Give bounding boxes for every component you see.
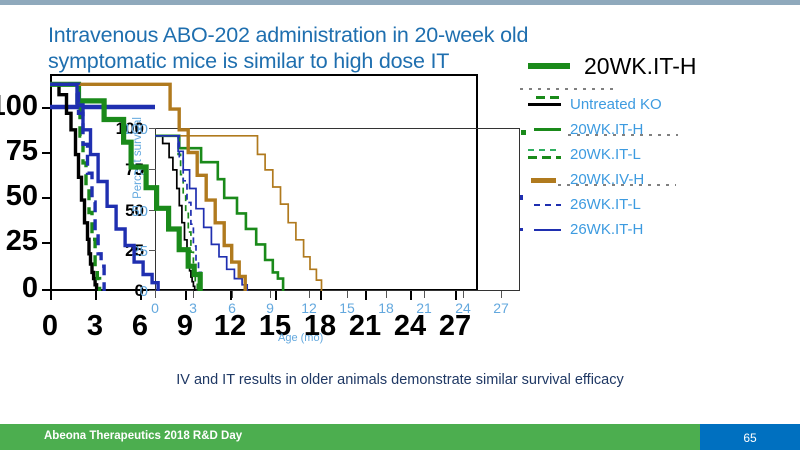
legend-item-20wk-it-h[interactable]: 20WK.IT-H	[528, 117, 798, 142]
inner-chart-xtick	[424, 291, 425, 298]
inner-chart-plot-frame	[155, 128, 520, 291]
slide-caption: IV and IT results in older animals demon…	[0, 372, 800, 388]
legend-ghost-line	[520, 88, 616, 90]
legend-item-20wk-iv-h[interactable]: 20WK.IV-H	[528, 167, 798, 192]
inner-chart-legend: Untreated KO 20WK.IT-H 20WK.IT-L 20WK.IV…	[528, 92, 798, 242]
inner-chart-ytick	[149, 128, 156, 129]
legend-item-26wk-it-h[interactable]: 26WK.IT-H	[528, 217, 798, 242]
inner-chart-xtick	[463, 291, 464, 298]
line-swatch-icon	[528, 199, 561, 210]
line-swatch-icon	[528, 99, 561, 110]
line-swatch-icon	[528, 149, 561, 160]
legend-item-26wk-it-l[interactable]: 26WK.IT-L	[528, 192, 798, 217]
inner-chart-xtick	[232, 291, 233, 298]
line-swatch-icon	[528, 224, 561, 235]
inner-chart-xlabel: 9	[255, 300, 285, 316]
slide-canvas: Intravenous ABO-202 administration in 20…	[0, 0, 800, 450]
legend-item-label: 20WK.IT-H	[584, 53, 696, 80]
inner-chart-ylabel-ghost: 0	[100, 283, 148, 300]
inner-chart-xlabel: 0	[140, 300, 170, 316]
inner-chart-xtick	[309, 291, 310, 298]
top-accent-bar	[0, 0, 800, 5]
inner-chart-xtick	[193, 291, 194, 298]
inner-chart: Percent survival Age (mo) 100 75 50 25 0…	[0, 60, 560, 360]
legend-item-label: 20WK.IT-L	[570, 146, 641, 163]
inner-chart-xtick	[501, 291, 502, 298]
inner-chart-xlabel: 15	[332, 300, 362, 316]
line-swatch-icon	[528, 124, 561, 135]
inner-chart-x-axis-title: Age (mo)	[278, 332, 323, 344]
inner-chart-ylabel-ghost: 25	[100, 243, 148, 260]
outer-chart-legend: 20WK.IT-H	[528, 52, 798, 80]
legend-item-label: 26WK.IT-L	[570, 196, 641, 213]
inner-chart-xtick	[386, 291, 387, 298]
line-swatch-icon	[528, 63, 570, 69]
legend-item-untreated-ko[interactable]: Untreated KO	[528, 92, 798, 117]
inner-chart-xtick	[270, 291, 271, 298]
inner-chart-xlabel: 27	[486, 300, 516, 316]
slide-footer: Abeona Therapeutics 2018 R&D Day 65	[0, 424, 800, 450]
inner-chart-ylabel-ghost: 75	[100, 162, 148, 179]
legend-item[interactable]: 20WK.IT-H	[528, 52, 798, 80]
footer-page-number: 65	[700, 431, 800, 445]
footer-text: Abeona Therapeutics 2018 R&D Day	[44, 430, 242, 442]
legend-ghost-line	[568, 134, 678, 136]
inner-chart-xlabel: 18	[371, 300, 401, 316]
inner-chart-xlabel: 24	[448, 300, 478, 316]
inner-chart-ytick	[149, 250, 156, 251]
line-swatch-icon	[528, 174, 561, 185]
inner-chart-xlabel: 21	[409, 300, 439, 316]
inner-chart-y-axis-title: Percent survival	[132, 98, 144, 218]
inner-chart-ytick	[149, 169, 156, 170]
inner-chart-ylabel-ghost: 50	[100, 203, 148, 220]
inner-chart-xlabel: 12	[294, 300, 324, 316]
inner-chart-xlabel: 6	[217, 300, 247, 316]
legend-ghost-line	[558, 184, 676, 186]
inner-chart-xlabel: 3	[178, 300, 208, 316]
legend-item-label: 26WK.IT-H	[570, 221, 643, 238]
legend-item-20wk-it-l[interactable]: 20WK.IT-L	[528, 142, 798, 167]
inner-chart-ylabel-ghost: 100	[100, 121, 148, 138]
legend-item-label: Untreated KO	[570, 96, 662, 113]
inner-chart-ytick	[149, 210, 156, 211]
inner-chart-xtick	[347, 291, 348, 298]
inner-chart-xtick	[155, 291, 156, 298]
